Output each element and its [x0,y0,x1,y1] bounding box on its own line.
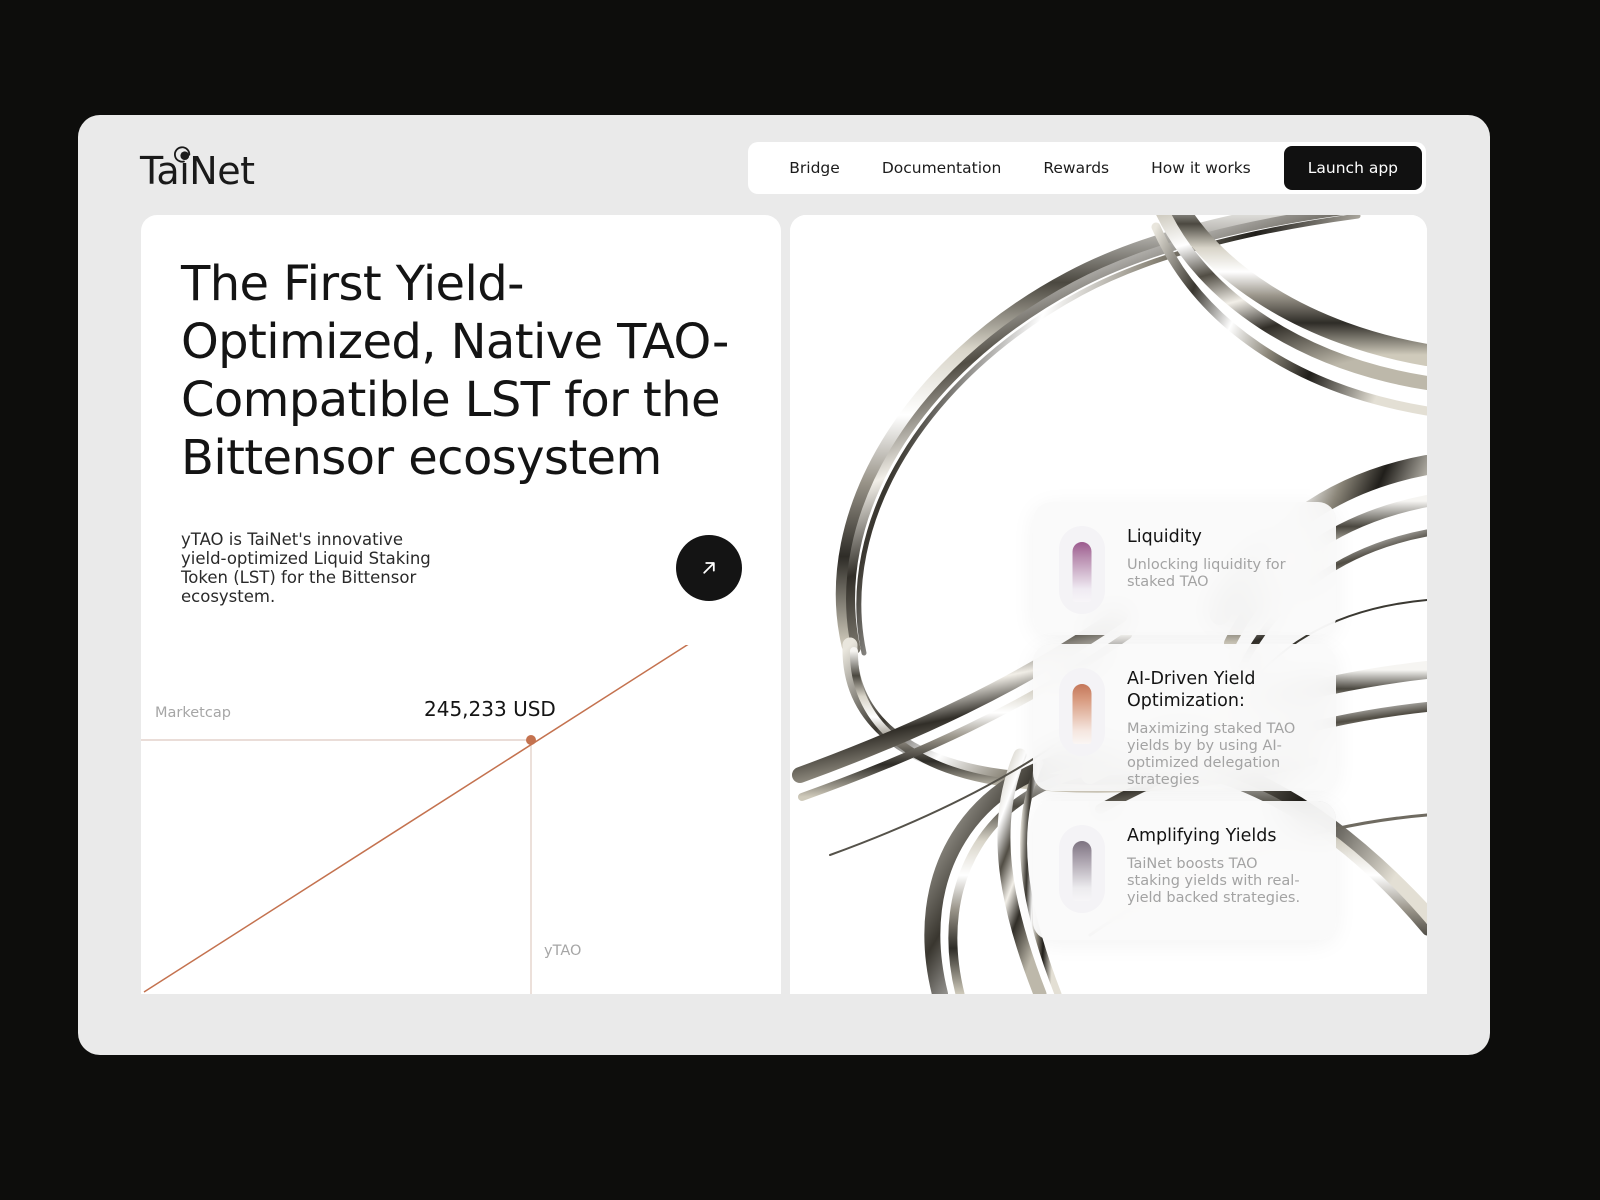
chart-xlabel: yTAO [544,943,581,959]
pill-indicator-icon [1059,526,1105,614]
feature-card-description: Maximizing staked TAO yields by by using… [1127,721,1314,789]
marketcap-chart: Marketcap 245,233 USD yTAO [141,645,781,994]
feature-card-description: TaiNet boosts TAO staking yields with re… [1127,856,1314,907]
main-navigation: Bridge Documentation Rewards How it work… [748,142,1426,194]
feature-card-title: AI-Driven Yield Optimization: [1127,668,1314,712]
nav-link-how-it-works[interactable]: How it works [1130,142,1272,194]
feature-card-liquidity[interactable]: Liquidity Unlocking liquidity for staked… [1033,502,1336,635]
pill-indicator-icon [1059,668,1105,756]
launch-app-button[interactable]: Launch app [1284,146,1422,190]
hero-subtitle: yTAO is TaiNet's innovative yield-optimi… [181,530,441,606]
spiral-dot-icon [173,146,192,165]
feature-card-amplifying-yields[interactable]: Amplifying Yields TaiNet boosts TAO stak… [1033,801,1336,940]
feature-card-title: Liquidity [1127,526,1314,548]
pill-indicator-icon [1059,825,1105,913]
feature-card-title: Amplifying Yields [1127,825,1314,847]
page-title: The First Yield-Optimized, Native TAO-Co… [181,255,756,487]
nav-link-bridge[interactable]: Bridge [768,142,861,194]
arrow-up-right-icon [696,555,722,581]
browser-frame: TaiNet Bridge Documentation Rewards How … [78,115,1490,1055]
chart-value-annotation: 245,233 USD [424,697,556,721]
nav-link-documentation[interactable]: Documentation [861,142,1023,194]
chart-ylabel: Marketcap [155,705,231,721]
feature-card-description: Unlocking liquidity for staked TAO [1127,557,1314,591]
site-header: TaiNet Bridge Documentation Rewards How … [78,115,1490,215]
hero-cta-button[interactable] [676,535,742,601]
hero-panel: The First Yield-Optimized, Native TAO-Co… [141,215,781,994]
feature-card-ai-yield-optimization[interactable]: AI-Driven Yield Optimization: Maximizing… [1033,644,1336,791]
brand-logo[interactable]: TaiNet [140,149,270,193]
visual-panel: Liquidity Unlocking liquidity for staked… [790,215,1427,994]
nav-link-rewards[interactable]: Rewards [1022,142,1130,194]
brand-name: TaiNet [140,149,270,193]
